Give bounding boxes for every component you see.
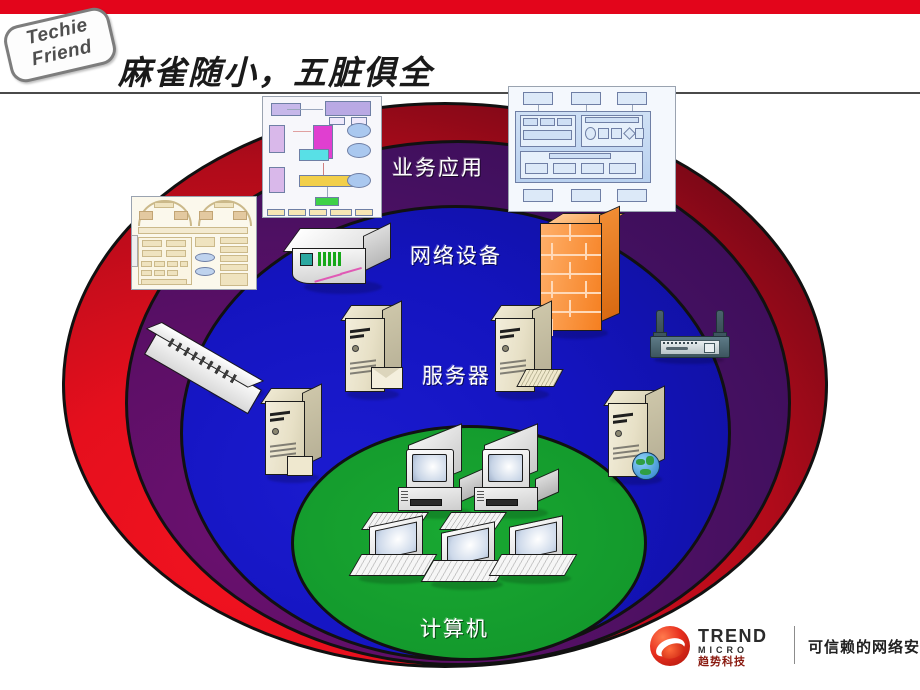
page-title: 麻雀随小，五脏俱全 [118, 46, 433, 94]
web-server-icon [608, 390, 672, 482]
techie-friend-stamp: Techie Friend [1, 5, 119, 86]
slide-canvas: Techie Friend 麻雀随小，五脏俱全 [0, 0, 920, 690]
zone-label-application: 业务应用 [392, 152, 484, 182]
network-appliance-icon [290, 228, 402, 306]
business-architecture-thumbnail [131, 196, 257, 290]
brand-name-chinese: 趋势科技 [698, 656, 768, 669]
brand-name-line2: MICRO [698, 645, 768, 656]
system-architecture-thumbnail [508, 86, 676, 212]
zone-label-server: 服务器 [422, 360, 491, 390]
trend-micro-wordmark: TREND MICRO 趋势科技 [698, 628, 768, 669]
logo-divider [794, 626, 795, 664]
database-server-icon [495, 305, 559, 397]
zone-label-computer: 计算机 [420, 613, 489, 643]
trend-micro-sphere-icon [650, 626, 690, 666]
wireless-router-icon [640, 310, 738, 362]
process-flowchart-thumbnail [262, 96, 382, 218]
laptop-computer-icon [495, 521, 583, 587]
zone-label-network: 网络设备 [410, 240, 502, 270]
file-server-icon [265, 388, 329, 480]
trend-micro-logo: TREND MICRO 趋势科技 可信赖的网络安全专家 [650, 620, 912, 672]
mail-server-icon [345, 305, 409, 397]
brand-name-line1: TREND [698, 628, 768, 645]
top-red-band [0, 0, 920, 14]
globe-icon [632, 452, 660, 480]
brand-tagline: 可信赖的网络安全专家 [808, 636, 920, 657]
